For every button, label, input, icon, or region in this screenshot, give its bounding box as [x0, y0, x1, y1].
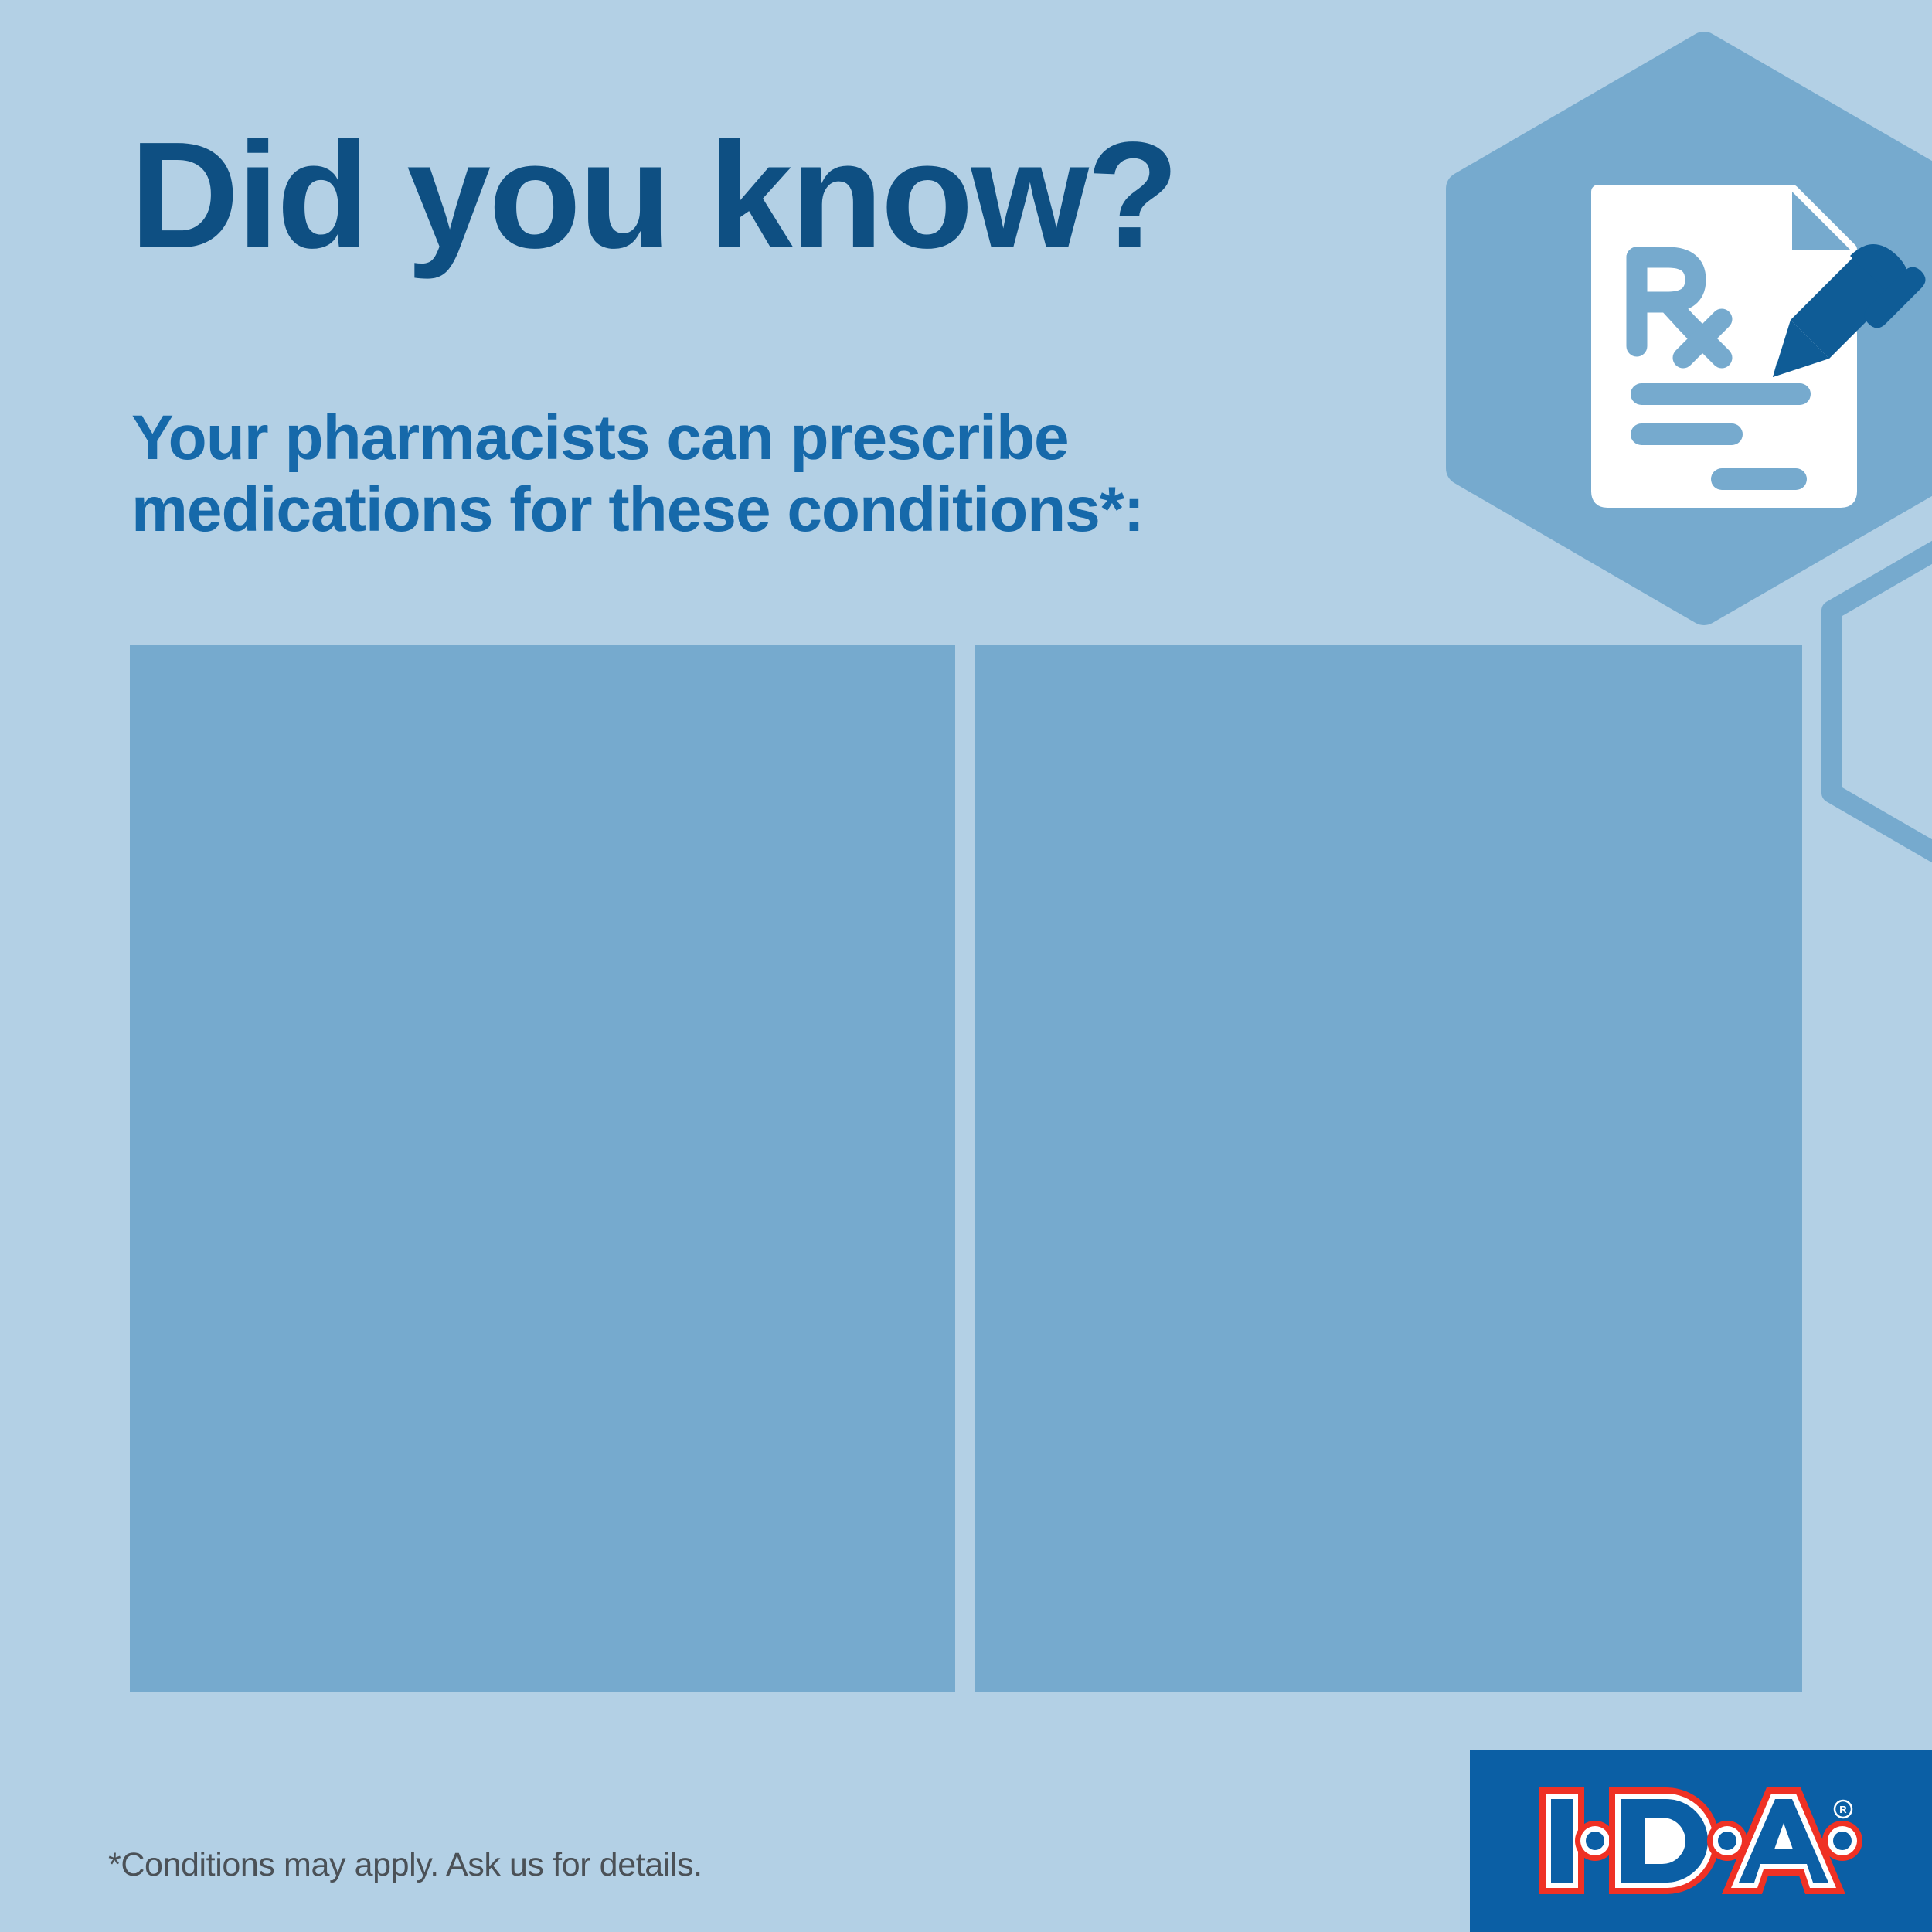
svg-text:R: R	[1839, 1804, 1847, 1815]
footnote-disclaimer: *Conditions may apply. Ask us for detail…	[108, 1845, 702, 1886]
document-page	[1598, 192, 1850, 501]
document-signature-line	[1711, 468, 1807, 490]
document-text-line-2	[1631, 423, 1743, 445]
document-text-line-1	[1631, 383, 1811, 405]
document-folded-corner	[1792, 192, 1850, 250]
right-content-panel	[975, 645, 1802, 1692]
ida-logo: I·D·A	[1470, 1750, 1932, 1932]
pen-icon	[1773, 244, 1926, 377]
ida-logotype-icon: R	[1539, 1787, 1862, 1894]
hexagon-outline-icon	[1832, 519, 1932, 884]
rx-symbol-icon	[1637, 257, 1722, 358]
content-panels	[130, 645, 1802, 1692]
prescription-document-with-pen-icon	[1598, 192, 1926, 501]
subheadline: Your pharmacists can prescribe medicatio…	[131, 402, 1291, 546]
page-title: Did you know?	[130, 120, 1177, 271]
left-content-panel	[130, 645, 955, 1692]
hexagon-filled-icon	[1463, 49, 1932, 608]
subheadline-line-2: medications for these conditions*:	[131, 474, 1291, 546]
subheadline-line-1: Your pharmacists can prescribe	[131, 402, 1291, 474]
poster-canvas: Did you know? Your pharmacists can presc…	[0, 0, 1932, 1932]
registered-trademark-icon: R	[1835, 1801, 1852, 1818]
